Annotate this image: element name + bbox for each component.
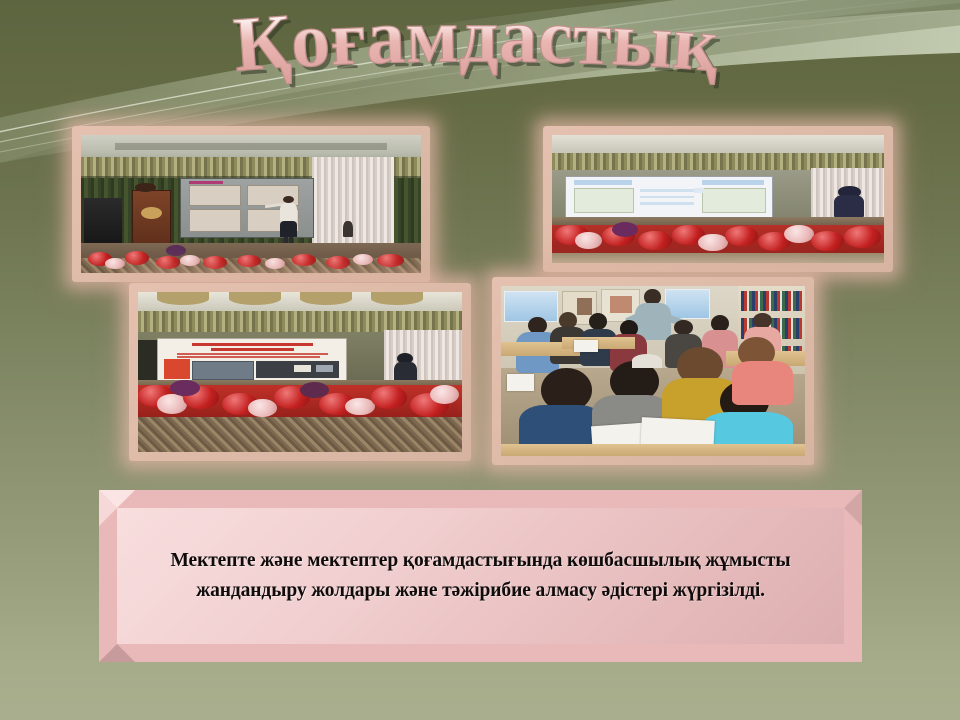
svg-text:Қоғамдастық: Қоғамдастық	[231, 0, 722, 88]
bevel-right	[844, 490, 862, 526]
caption-text: Мектепте және мектептер қоғамдастығында …	[117, 546, 844, 606]
textbox-face: Мектепте және мектептер қоғамдастығында …	[117, 508, 844, 644]
bevel-bottom	[99, 644, 135, 662]
title-main-text: Қоғамдастық	[231, 0, 722, 88]
slide-title: Қоғамдастық Қоғамдастық	[0, 4, 960, 116]
photo-auditorium-stage-presenter	[72, 126, 430, 282]
presentation-slide: Қоғамдастық Қоғамдастық	[0, 0, 960, 720]
photo-stage-presentation-slide	[129, 283, 471, 461]
photo-classroom-group-work	[492, 277, 814, 465]
photo-stage-projection-diagram	[543, 126, 893, 272]
title-wordart: Қоғамдастық Қоғамдастық	[100, 5, 860, 115]
bevel-left	[99, 490, 117, 526]
caption-textbox: Мектепте және мектептер қоғамдастығында …	[99, 490, 862, 662]
